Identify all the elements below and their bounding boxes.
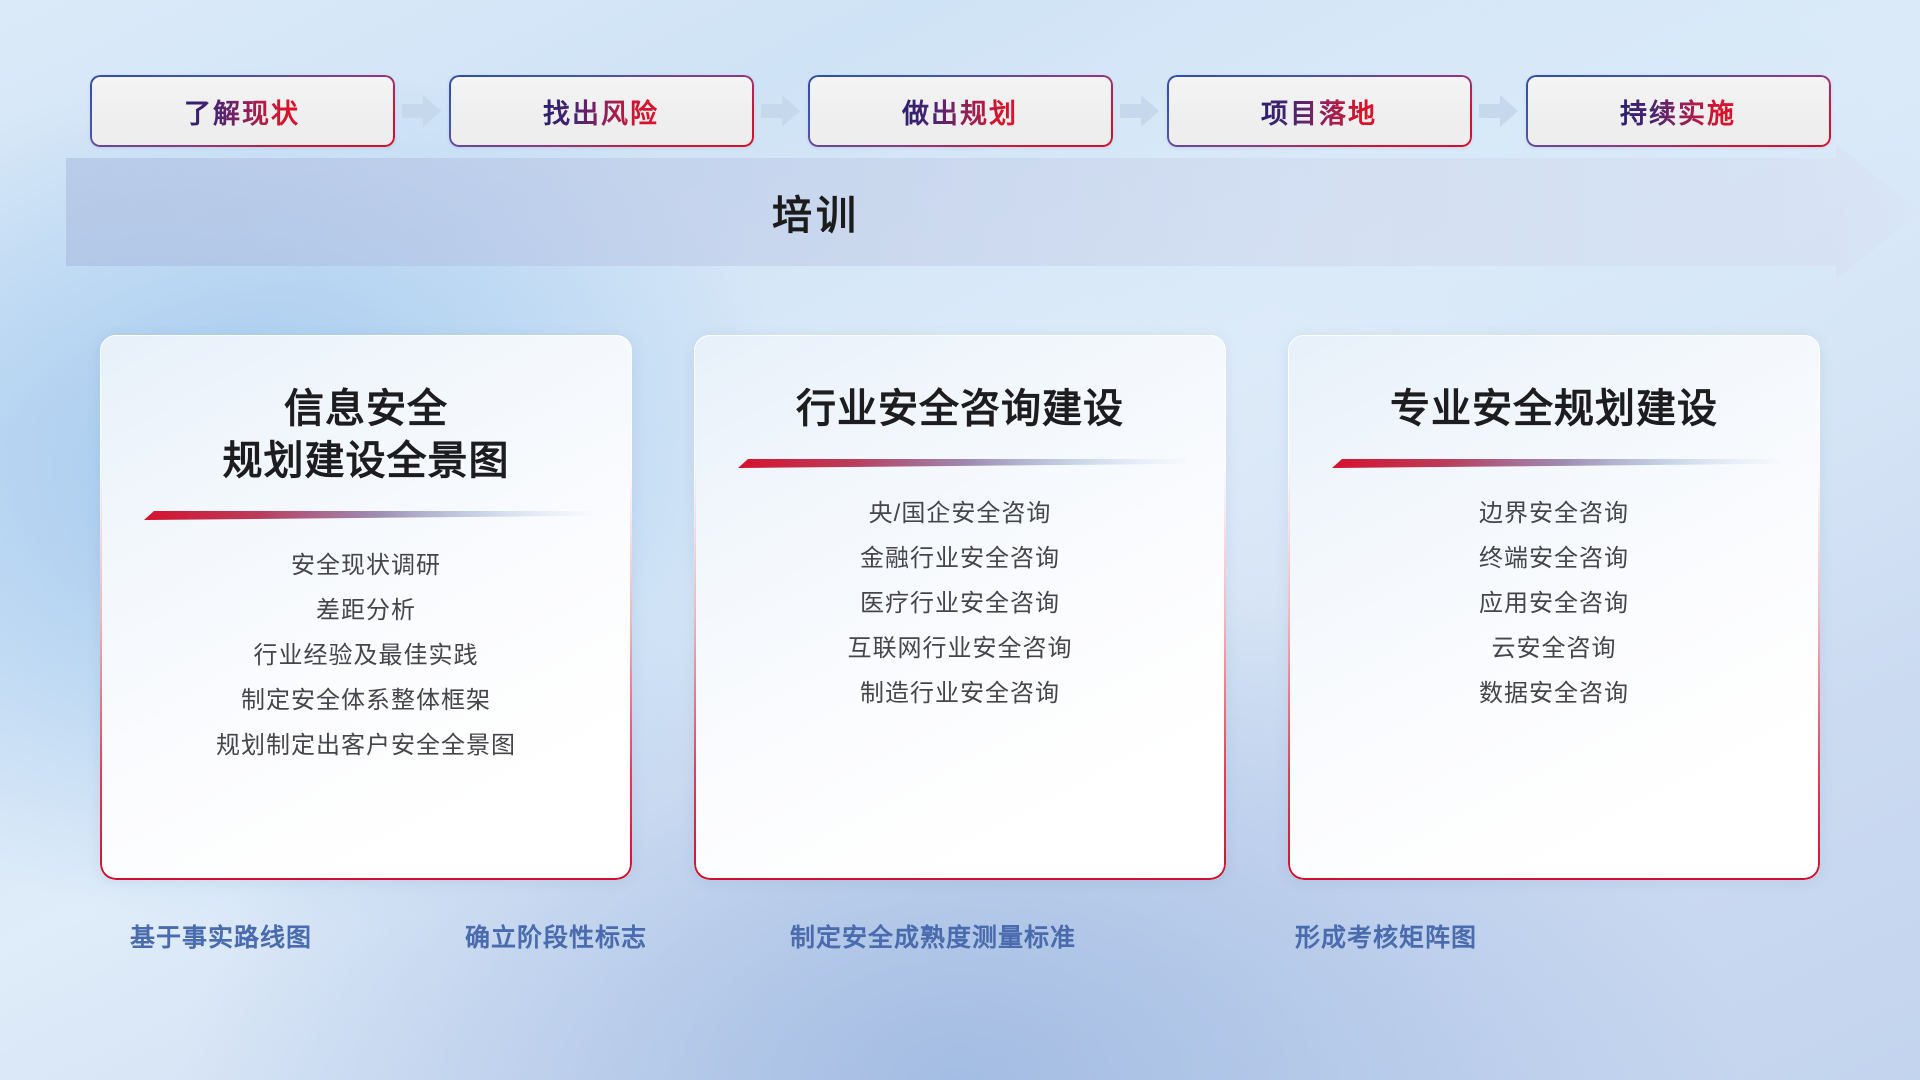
card-title-line: 专业安全规划建设 xyxy=(1322,383,1786,435)
list-item[interactable]: 云安全咨询 xyxy=(1322,627,1786,672)
footer-caption-1: 基于事实路线图 xyxy=(130,918,312,954)
flow-step-label: 持续实施 xyxy=(1620,92,1736,131)
card-inner: 专业安全规划建设边界安全咨询终端安全咨询应用安全咨询云安全咨询数据安全咨询 xyxy=(1288,335,1820,880)
footer-captions: 基于事实路线图确立阶段性标志制定安全成熟度测量标准形成考核矩阵图 xyxy=(0,918,1920,962)
flow-step-label: 找出风险 xyxy=(543,92,659,131)
training-band-arrowhead xyxy=(1836,144,1920,280)
card-item-list: 边界安全咨询终端安全咨询应用安全咨询云安全咨询数据安全咨询 xyxy=(1322,492,1786,717)
card-title: 信息安全规划建设全景图 xyxy=(134,383,598,487)
card-divider xyxy=(140,509,592,522)
list-item[interactable]: 安全现状调研 xyxy=(134,544,598,589)
service-cards: 信息安全规划建设全景图安全现状调研差距分析行业经验及最佳实践制定安全体系整体框架… xyxy=(0,335,1920,880)
list-item[interactable]: 互联网行业安全咨询 xyxy=(728,627,1192,672)
card-title: 专业安全规划建设 xyxy=(1322,383,1786,435)
card-item-list: 安全现状调研差距分析行业经验及最佳实践制定安全体系整体框架规划制定出客户安全全景… xyxy=(134,544,598,769)
card-inner: 信息安全规划建设全景图安全现状调研差距分析行业经验及最佳实践制定安全体系整体框架… xyxy=(100,335,632,880)
flow-step-label: 项目落地 xyxy=(1261,92,1377,131)
card-title-line: 行业安全咨询建设 xyxy=(728,383,1192,435)
list-item[interactable]: 终端安全咨询 xyxy=(1322,537,1786,582)
card-title-line: 信息安全 xyxy=(134,383,598,435)
flow-step-3[interactable]: 做出规划 xyxy=(808,75,1113,147)
flow-arrow-icon-2 xyxy=(754,70,808,152)
flow-step-label: 了解现状 xyxy=(184,92,300,131)
card-divider xyxy=(734,457,1186,470)
list-item[interactable]: 应用安全咨询 xyxy=(1322,582,1786,627)
training-band-label: 培训 xyxy=(66,158,1566,266)
process-flow-strip: 了解现状找出风险做出规划项目落地持续实施 xyxy=(0,70,1920,152)
footer-caption-3: 制定安全成熟度测量标准 xyxy=(790,918,1076,954)
flow-step-5[interactable]: 持续实施 xyxy=(1526,75,1831,147)
service-card-1[interactable]: 信息安全规划建设全景图安全现状调研差距分析行业经验及最佳实践制定安全体系整体框架… xyxy=(100,335,632,880)
service-card-2[interactable]: 行业安全咨询建设央/国企安全咨询金融行业安全咨询医疗行业安全咨询互联网行业安全咨… xyxy=(694,335,1226,880)
flow-arrow-icon-1 xyxy=(395,70,449,152)
card-item-list: 央/国企安全咨询金融行业安全咨询医疗行业安全咨询互联网行业安全咨询制造行业安全咨… xyxy=(728,492,1192,717)
flow-step-2[interactable]: 找出风险 xyxy=(449,75,754,147)
flow-arrow-icon-4 xyxy=(1472,70,1526,152)
card-divider xyxy=(1328,457,1780,470)
list-item[interactable]: 医疗行业安全咨询 xyxy=(728,582,1192,627)
list-item[interactable]: 数据安全咨询 xyxy=(1322,672,1786,717)
card-title: 行业安全咨询建设 xyxy=(728,383,1192,435)
training-band: 培训 xyxy=(66,158,1920,266)
flow-step-4[interactable]: 项目落地 xyxy=(1167,75,1472,147)
list-item[interactable]: 制造行业安全咨询 xyxy=(728,672,1192,717)
list-item[interactable]: 央/国企安全咨询 xyxy=(728,492,1192,537)
list-item[interactable]: 行业经验及最佳实践 xyxy=(134,634,598,679)
list-item[interactable]: 差距分析 xyxy=(134,589,598,634)
flow-step-1[interactable]: 了解现状 xyxy=(90,75,395,147)
list-item[interactable]: 边界安全咨询 xyxy=(1322,492,1786,537)
flow-step-label: 做出规划 xyxy=(902,92,1018,131)
list-item[interactable]: 金融行业安全咨询 xyxy=(728,537,1192,582)
card-title-line: 规划建设全景图 xyxy=(134,435,598,487)
service-card-3[interactable]: 专业安全规划建设边界安全咨询终端安全咨询应用安全咨询云安全咨询数据安全咨询 xyxy=(1288,335,1820,880)
list-item[interactable]: 规划制定出客户安全全景图 xyxy=(134,724,598,769)
list-item[interactable]: 制定安全体系整体框架 xyxy=(134,679,598,724)
flow-arrow-icon-3 xyxy=(1113,70,1167,152)
card-inner: 行业安全咨询建设央/国企安全咨询金融行业安全咨询医疗行业安全咨询互联网行业安全咨… xyxy=(694,335,1226,880)
footer-caption-2: 确立阶段性标志 xyxy=(465,918,647,954)
footer-caption-4: 形成考核矩阵图 xyxy=(1295,918,1477,954)
